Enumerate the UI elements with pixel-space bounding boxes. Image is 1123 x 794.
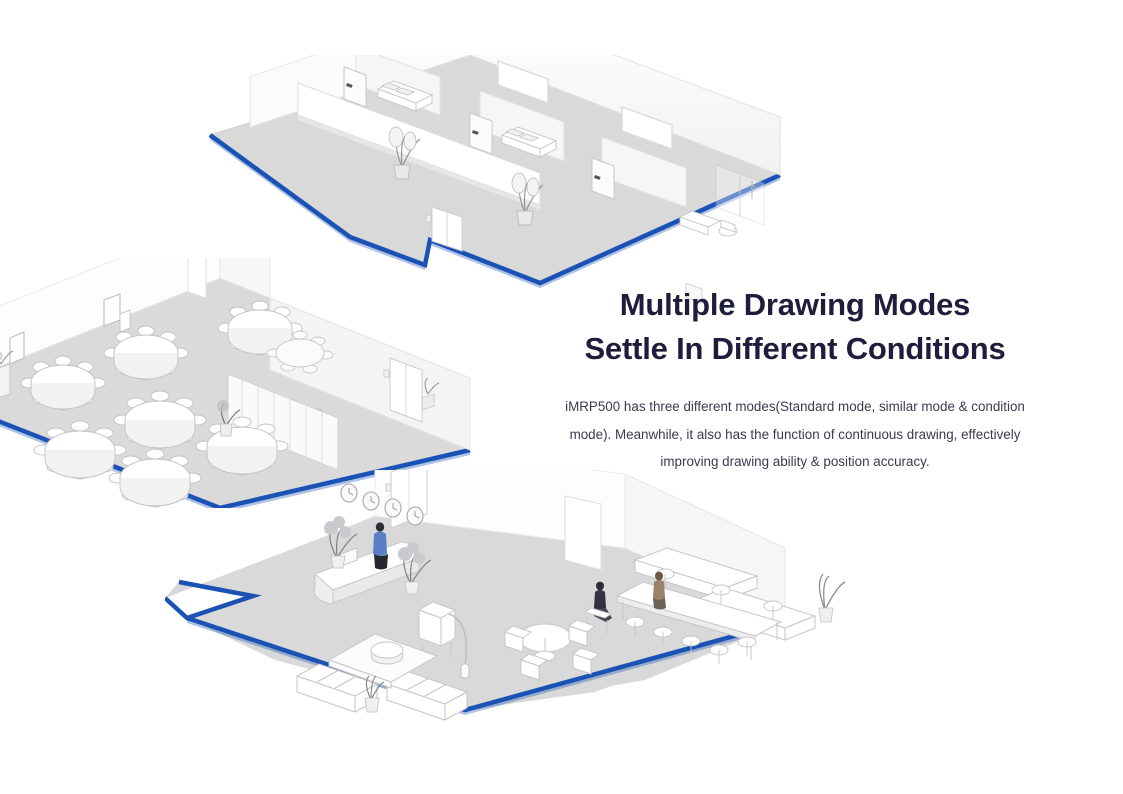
lobby-partition (565, 496, 601, 570)
heading-line-2: Settle In Different Conditions (545, 327, 1045, 371)
marketing-copy: Multiple Drawing Modes Settle In Differe… (545, 283, 1045, 489)
wall-clock (385, 499, 401, 517)
bar-stool (710, 645, 728, 664)
heading-line-1: Multiple Drawing Modes (545, 283, 1045, 327)
toilet (719, 220, 737, 236)
planter-grass (819, 574, 845, 622)
floorplan-hotel-lobby (165, 470, 885, 730)
wall-clock (363, 492, 379, 510)
framed-art (10, 332, 24, 364)
wall-clock (341, 484, 357, 502)
wall-clock (407, 507, 423, 525)
illustration-canvas: Multiple Drawing Modes Settle In Differe… (0, 0, 1123, 794)
open-partition (188, 258, 206, 298)
framed-art (104, 294, 120, 326)
bar-stool (738, 637, 756, 656)
framed-art (120, 310, 130, 332)
body-paragraph: iMRP500 has three different modes(Standa… (545, 393, 1045, 475)
